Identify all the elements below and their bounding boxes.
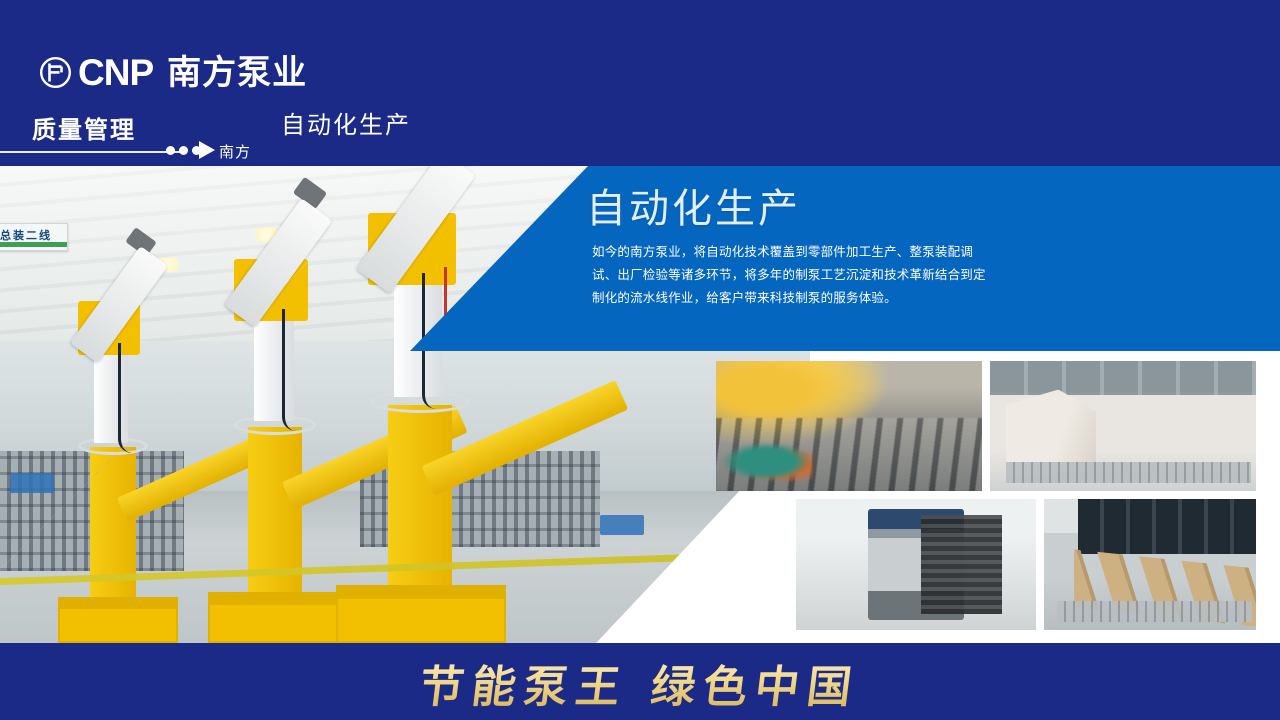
breadcrumb-sub-label[interactable]: 南方	[219, 141, 251, 162]
grid-photo[interactable]	[796, 499, 1036, 630]
panel-body-text: 如今的南方泵业，将自动化技术覆盖到零部件加工生产、整泵装配调试、出厂检验等诸多环…	[592, 240, 992, 309]
line-sign-text: 总装二线	[0, 227, 52, 243]
breadcrumb: 质量管理 南方 自动化生产	[0, 108, 1280, 160]
grid-photo[interactable]	[716, 361, 982, 491]
nav-section-label[interactable]: 质量管理	[32, 110, 136, 145]
brand-logo: CNP 南方泵业	[40, 54, 307, 91]
grid-photo[interactable]	[1044, 499, 1256, 630]
grid-photo[interactable]	[990, 361, 1256, 491]
nav-current-label[interactable]: 自动化生产	[281, 105, 411, 140]
slide-body: 总装二线	[0, 166, 1280, 643]
roller-conveyor	[1057, 601, 1252, 622]
breadcrumb-dots	[166, 146, 201, 155]
slide-footer: 节能泵王 绿色中国	[0, 643, 1280, 720]
breadcrumb-rule	[0, 151, 180, 153]
dot-icon	[166, 146, 175, 155]
panel-title: 自动化生产	[586, 176, 801, 234]
parts-bin	[10, 473, 54, 493]
cnp-emblem-icon	[40, 57, 71, 88]
dot-icon	[179, 146, 188, 155]
logo-latin-text: CNP	[78, 54, 153, 91]
logo-chinese-text: 南方泵业	[167, 55, 307, 91]
conveyor	[1006, 462, 1251, 483]
photo-art	[716, 361, 982, 491]
slide-canvas: CNP 南方泵业 质量管理 南方 自动化生产	[0, 0, 1280, 720]
triangle-right-icon	[199, 141, 215, 159]
slide-header: CNP 南方泵业 质量管理 南方 自动化生产	[0, 0, 1280, 166]
photo-art	[796, 499, 1036, 630]
footer-slogan: 节能泵王 绿色中国	[0, 651, 1280, 715]
photo-grid	[716, 361, 1256, 630]
